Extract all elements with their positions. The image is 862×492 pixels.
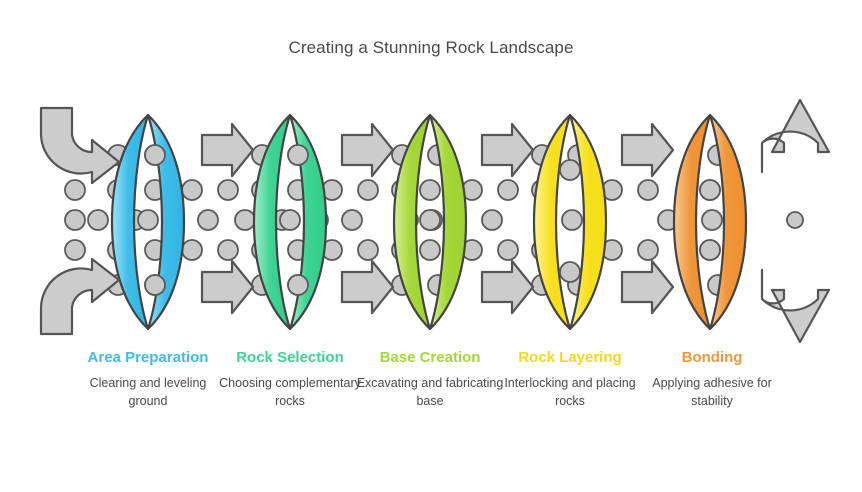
next-step-arrow-1[interactable] <box>202 124 253 176</box>
stage-title-2: Rock Selection <box>215 348 365 367</box>
stage-title-4: Rock Layering <box>495 348 645 367</box>
next-step-arrow-3-lower[interactable] <box>482 261 533 313</box>
stage-description-1: Clearing and leveling ground <box>73 367 223 410</box>
next-step-arrow-2[interactable] <box>342 124 393 176</box>
output-arrow-top[interactable] <box>762 100 829 172</box>
diagram-canvas: Creating a Stunning Rock Landscape <box>0 0 862 492</box>
next-step-arrow-4[interactable] <box>622 124 673 176</box>
next-step-arrow-2-lower[interactable] <box>342 261 393 313</box>
stage-title-3: Base Creation <box>355 348 505 367</box>
stage-description-3: Excavating and fabricating base <box>355 367 505 410</box>
stage-description-2: Choosing complementary rocks <box>215 367 365 410</box>
next-step-arrow-4-lower[interactable] <box>622 261 673 313</box>
stage-label-3: Base Creation Excavating and fabricating… <box>355 348 505 410</box>
stage-label-4: Rock Layering Interlocking and placing r… <box>495 348 645 410</box>
stage-description-4: Interlocking and placing rocks <box>495 367 645 410</box>
stage-labels-row: Area Preparation Clearing and leveling g… <box>0 348 862 468</box>
input-arrow-top[interactable] <box>41 108 119 183</box>
stage-description-5: Applying adhesive for stability <box>637 367 787 410</box>
input-arrow-bottom[interactable] <box>41 259 119 334</box>
stage-label-2: Rock Selection Choosing complementary ro… <box>215 348 365 410</box>
stage-label-1: Area Preparation Clearing and leveling g… <box>73 348 223 410</box>
stage-label-5: Bonding Applying adhesive for stability <box>637 348 787 410</box>
next-step-arrow-3[interactable] <box>482 124 533 176</box>
next-step-arrow-1-lower[interactable] <box>202 261 253 313</box>
stage-title-1: Area Preparation <box>73 348 223 367</box>
stage-title-5: Bonding <box>637 348 787 367</box>
output-arrow-bottom[interactable] <box>762 270 829 342</box>
